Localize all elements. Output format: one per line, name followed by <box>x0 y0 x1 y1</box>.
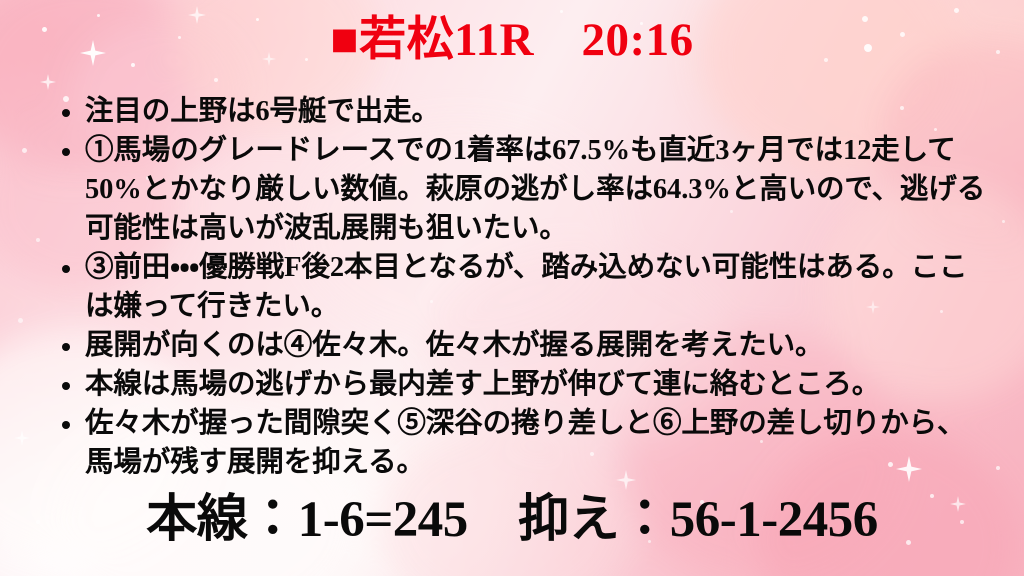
race-preview-slide: ■若松11R 20:16 注目の上野は6号艇で出走。 ①馬場のグレードレースでの… <box>0 0 1024 576</box>
list-item: 本線は馬場の逃げから最内差す上野が伸びて連に絡むところ。 <box>58 365 988 404</box>
list-item: 注目の上野は6号艇で出走。 <box>58 92 988 131</box>
list-item: ③前田・・・優勝戦F後2本目となるが、踏み込めない可能性はある。ここは嫌って行き… <box>58 248 988 326</box>
bullet-dot-icon <box>62 148 70 156</box>
bullet-dot-icon <box>62 343 70 351</box>
prediction-summary: 本線：1-6=245 抑え：56-1-2456 <box>0 492 1024 548</box>
list-item-text: ③前田・・・優勝戦F後2本目となるが、踏み込めない可能性はある。ここは嫌って行き… <box>85 252 967 322</box>
list-item-text: 佐々木が握った間隙突く⑤深谷の捲り差しと⑥上野の差し切りから、馬場が残す展開を抑… <box>85 408 965 478</box>
bullet-list: 注目の上野は6号艇で出走。 ①馬場のグレードレースでの1着率は67.5%も直近3… <box>58 92 988 482</box>
bullet-dot-icon <box>62 265 70 273</box>
list-item-text: 展開が向くのは④佐々木。佐々木が握る展開を考えたい。 <box>85 330 823 361</box>
bullet-dot-icon <box>62 382 70 390</box>
list-item: 佐々木が握った間隙突く⑤深谷の捲り差しと⑥上野の差し切りから、馬場が残す展開を抑… <box>58 404 988 482</box>
list-item-text: ①馬場のグレードレースでの1着率は67.5%も直近3ヶ月では12走して50%とか… <box>85 135 985 244</box>
list-item-text: 本線は馬場の逃げから最内差す上野が伸びて連に絡むところ。 <box>85 369 880 400</box>
bullet-dot-icon <box>62 421 70 429</box>
bullet-dot-icon <box>62 109 70 117</box>
list-item-text: 注目の上野は6号艇で出走。 <box>85 96 440 127</box>
list-item: ①馬場のグレードレースでの1着率は67.5%も直近3ヶ月では12走して50%とか… <box>58 131 988 248</box>
slide-content: ■若松11R 20:16 注目の上野は6号艇で出走。 ①馬場のグレードレースでの… <box>0 0 1024 576</box>
list-item: 展開が向くのは④佐々木。佐々木が握る展開を考えたい。 <box>58 326 988 365</box>
page-title: ■若松11R 20:16 <box>0 14 1024 67</box>
